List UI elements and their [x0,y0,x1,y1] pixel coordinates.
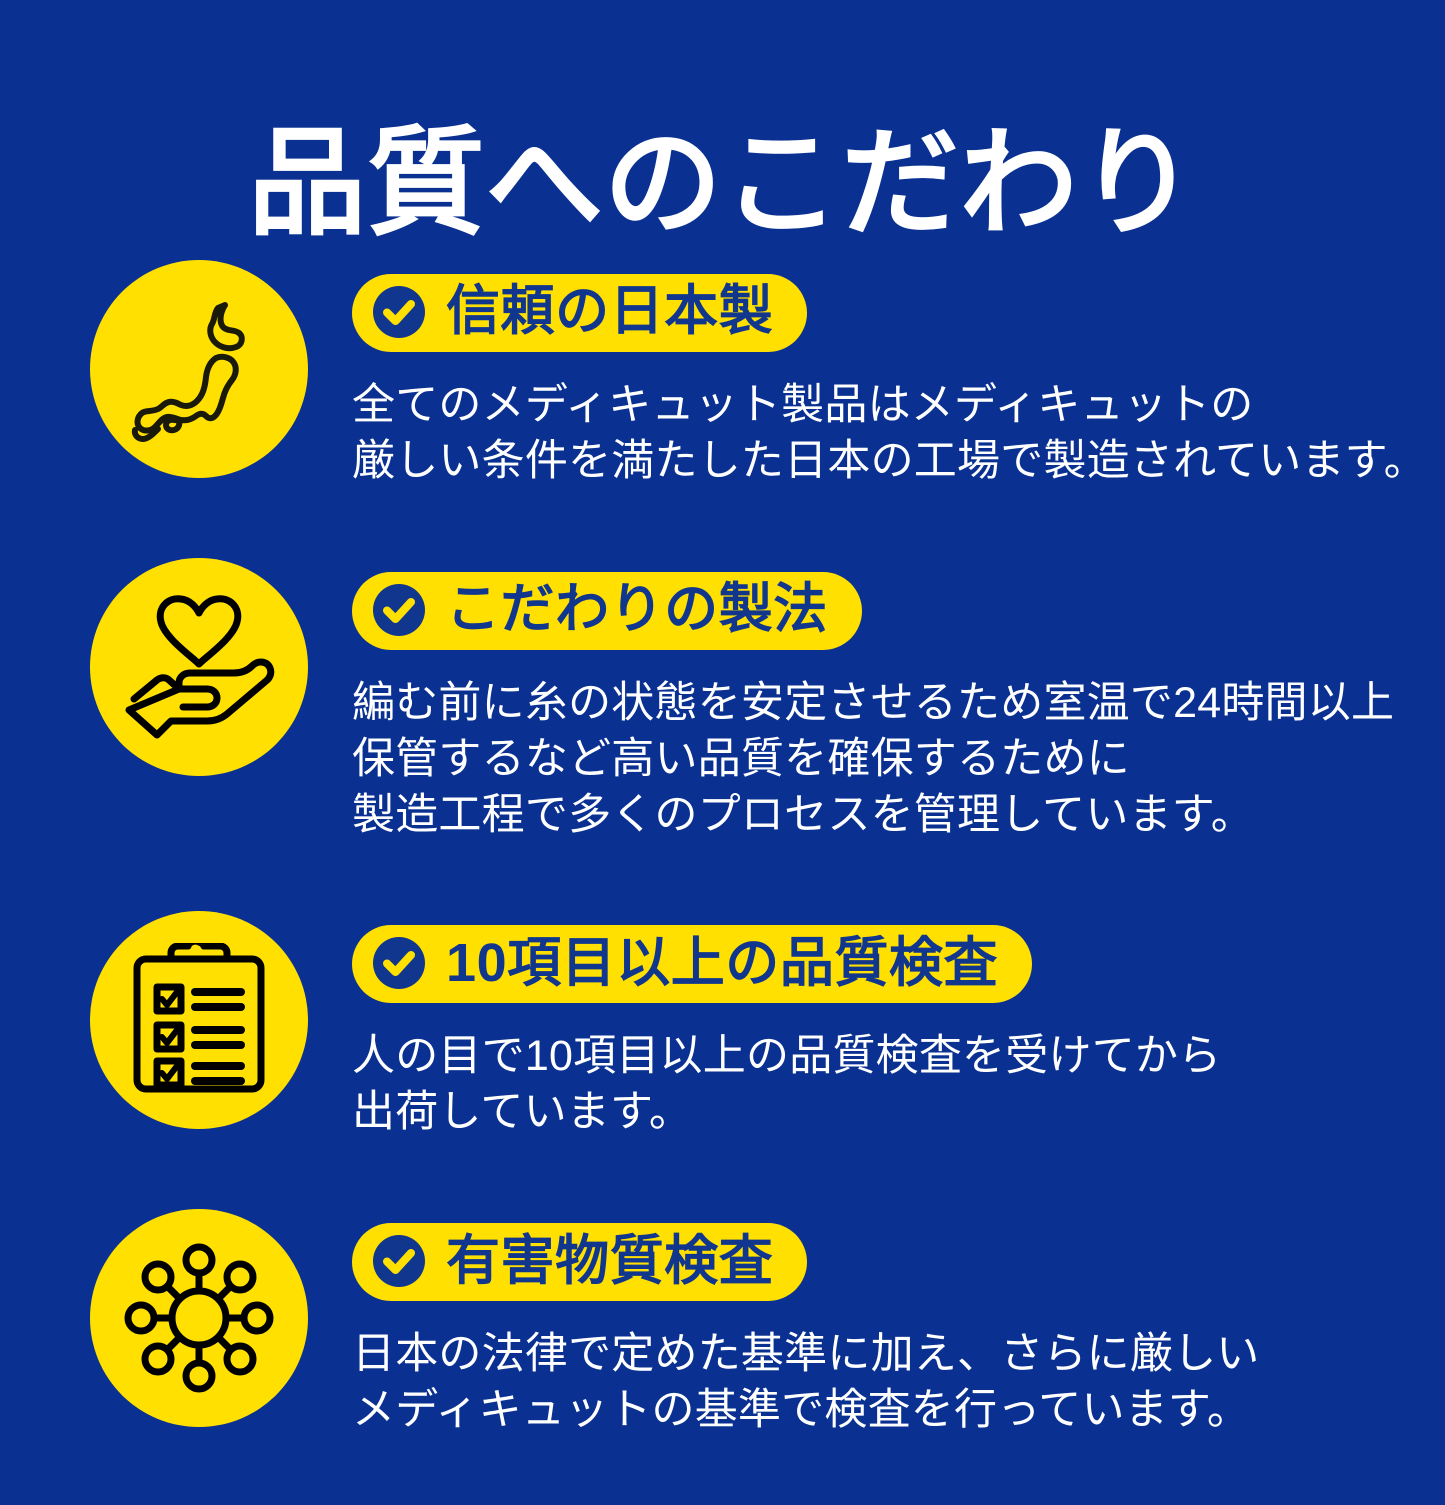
description-line: 全てのメディキュット製品はメディキュットの [352,378,1445,434]
feature-item-hazardous-substance-test: 有害物質検査 日本の法律で定めた基準に加え、さらに厳しい メディキュットの基準で… [0,1207,1445,1439]
heart-in-hand-icon [90,558,308,776]
feature-badge-label: 有害物質検査 [446,1233,773,1290]
quality-commitment-page: 品質へのこだわり [0,0,1445,1445]
check-circle-icon [370,934,428,992]
description-line: 人の目で10項目以上の品質検査を受けてから [352,1029,1445,1085]
molecule-icon [90,1209,308,1427]
description-line: 保管するなど高い品質を確保するために [352,732,1445,788]
description-line: 製造工程で多くのプロセスを管理しています。 [352,788,1445,844]
feature-item-craft-method: こだわりの製法 編む前に糸の状態を安定させるため室温で24時間以上 保管するなど… [0,556,1445,844]
check-circle-icon [370,1232,428,1290]
feature-description: 人の目で10項目以上の品質検査を受けてから 出荷しています。 [352,1029,1445,1141]
japan-map-icon [90,260,308,478]
feature-content: 有害物質検査 日本の法律で定めた基準に加え、さらに厳しい メディキュットの基準で… [308,1207,1445,1439]
feature-description: 日本の法律で定めた基準に加え、さらに厳しい メディキュットの基準で検査を行ってい… [352,1327,1445,1439]
feature-item-made-in-japan: 信頼の日本製 全てのメディキュット製品はメディキュットの 厳しい条件を満たした日… [0,258,1445,490]
feature-content: 10項目以上の品質検査 人の目で10項目以上の品質検査を受けてから 出荷していま… [308,909,1445,1141]
description-line: 厳しい条件を満たした日本の工場で製造されています。 [352,434,1445,490]
feature-badge: 10項目以上の品質検査 [352,925,1032,1003]
feature-item-quality-inspection: 10項目以上の品質検査 人の目で10項目以上の品質検査を受けてから 出荷していま… [0,909,1445,1141]
check-circle-icon [370,581,428,639]
feature-badge: 有害物質検査 [352,1223,807,1301]
feature-content: 信頼の日本製 全てのメディキュット製品はメディキュットの 厳しい条件を満たした日… [308,258,1445,490]
feature-description: 全てのメディキュット製品はメディキュットの 厳しい条件を満たした日本の工場で製造… [352,378,1445,490]
page-title: 品質へのこだわり [0,115,1445,254]
check-circle-icon [370,283,428,341]
description-line: 編む前に糸の状態を安定させるため室温で24時間以上 [352,676,1445,732]
feature-list: 信頼の日本製 全てのメディキュット製品はメディキュットの 厳しい条件を満たした日… [0,258,1445,1505]
description-line: 日本の法律で定めた基準に加え、さらに厳しい [352,1327,1445,1383]
description-line: メディキュットの基準で検査を行っています。 [352,1383,1445,1439]
feature-content: こだわりの製法 編む前に糸の状態を安定させるため室温で24時間以上 保管するなど… [308,556,1445,844]
feature-badge: こだわりの製法 [352,572,862,650]
description-line: 出荷しています。 [352,1085,1445,1141]
feature-badge-label: 信頼の日本製 [446,283,773,340]
feature-badge-label: こだわりの製法 [446,581,828,638]
clipboard-checklist-icon [90,911,308,1129]
feature-badge-label: 10項目以上の品質検査 [446,935,998,992]
feature-description: 編む前に糸の状態を安定させるため室温で24時間以上 保管するなど高い品質を確保す… [352,676,1445,844]
feature-badge: 信頼の日本製 [352,274,807,352]
